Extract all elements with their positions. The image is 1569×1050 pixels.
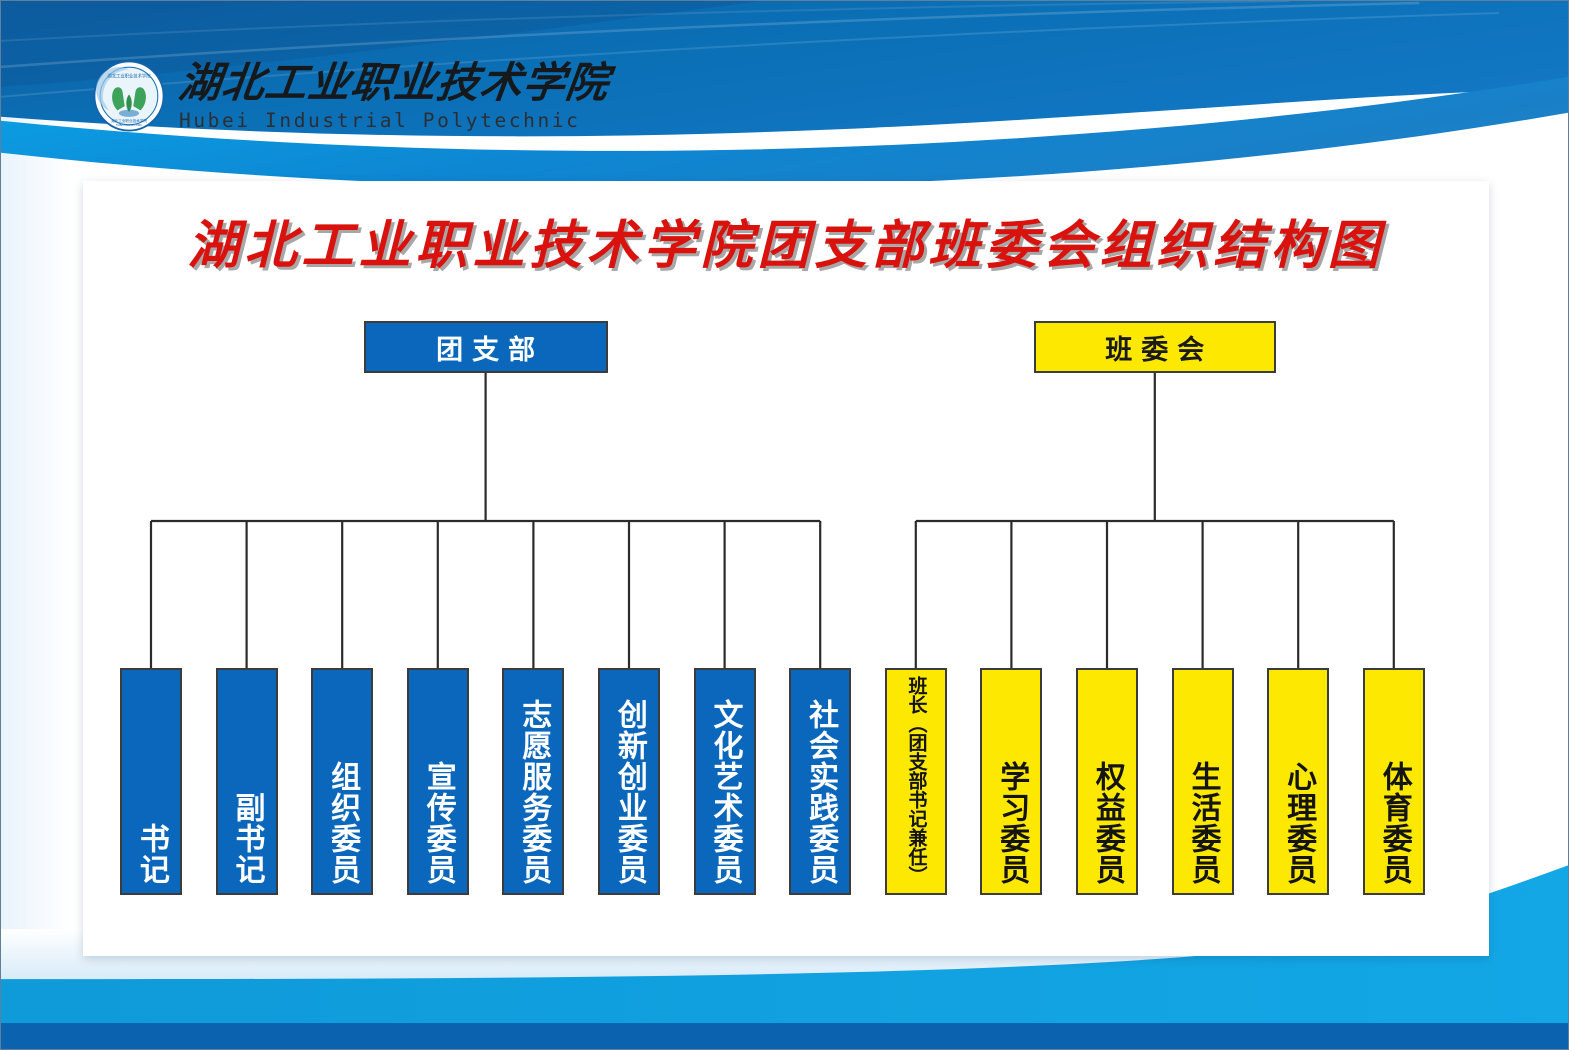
leaf-box-label: 社会实践委员 [804,699,836,885]
brand-header: 湖北工业职业技术学院 湖北工业职业技术学院 HUBEI POLYTECHNIC … [93,59,609,132]
leaf-box-deputy-secretary[interactable]: 副书记 [216,668,278,895]
leaf-box-label: 心理委员 [1282,761,1314,885]
leaf-box-sports-member[interactable]: 体育委员 [1363,668,1425,895]
leaf-box-class-monitor[interactable]: 班长（团支部书记兼任） [885,668,947,895]
leaf-box-study-member[interactable]: 学习委员 [980,668,1042,895]
school-emblem-icon: 湖北工业职业技术学院 湖北工业职业技术学院 HUBEI POLYTECHNIC [93,60,165,132]
leaf-box-culture-arts-member[interactable]: 文化艺术委员 [694,668,756,895]
leaf-box-label: 学习委员 [995,761,1027,885]
leaf-box-label: 体育委员 [1378,761,1410,885]
leaf-box-label: 生活委员 [1187,761,1219,885]
leaf-box-label: 宣传委员 [422,761,454,885]
leaf-box-publicity-member[interactable]: 宣传委员 [407,668,469,895]
leaf-box-secretary[interactable]: 书记 [120,668,182,895]
leaf-box-label: 创新创业委员 [613,699,645,885]
brand-name-cn: 湖北工业职业技术学院 [176,61,611,105]
org-chart-poster: 湖北工业职业技术学院 湖北工业职业技术学院 HUBEI POLYTECHNIC … [0,0,1569,1050]
leaf-box-label: 文化艺术委员 [709,699,741,885]
leaf-box-life-member[interactable]: 生活委员 [1172,668,1234,895]
root-box-label: 班委会 [1096,328,1213,367]
leaf-box-label: 志愿服务委员 [517,699,549,885]
leaf-box-social-practice-member[interactable]: 社会实践委员 [789,668,851,895]
leaf-box-label: 组织委员 [326,761,358,885]
leaf-box-volunteer-member[interactable]: 志愿服务委员 [502,668,564,895]
leaf-box-label: 班长（团支部书记兼任） [906,676,925,885]
leaf-box-psych-member[interactable]: 心理委员 [1267,668,1329,895]
chart-title: 湖北工业职业技术学院团支部班委会组织结构图 [83,203,1489,278]
leaf-box-label: 书记 [135,823,167,885]
chart-panel: 湖北工业职业技术学院团支部班委会组织结构图 团支部书记副书记组织委员宣传委员志愿… [83,181,1489,956]
brand-name-en: Hubei Industrial Polytechnic [179,109,609,132]
svg-text:湖北工业职业技术学院: 湖北工业职业技术学院 [111,117,147,122]
root-box-class-committee[interactable]: 班委会 [1034,321,1276,373]
leaf-box-innovation-member[interactable]: 创新创业委员 [598,668,660,895]
root-box-youth-league-branch[interactable]: 团支部 [364,321,608,373]
svg-text:HUBEI POLYTECHNIC: HUBEI POLYTECHNIC [116,123,143,127]
leaf-box-organization-member[interactable]: 组织委员 [311,668,373,895]
leaf-box-label: 副书记 [231,792,263,885]
leaf-box-label: 权益委员 [1091,761,1123,885]
root-box-label: 团支部 [427,328,544,367]
leaf-box-rights-member[interactable]: 权益委员 [1076,668,1138,895]
